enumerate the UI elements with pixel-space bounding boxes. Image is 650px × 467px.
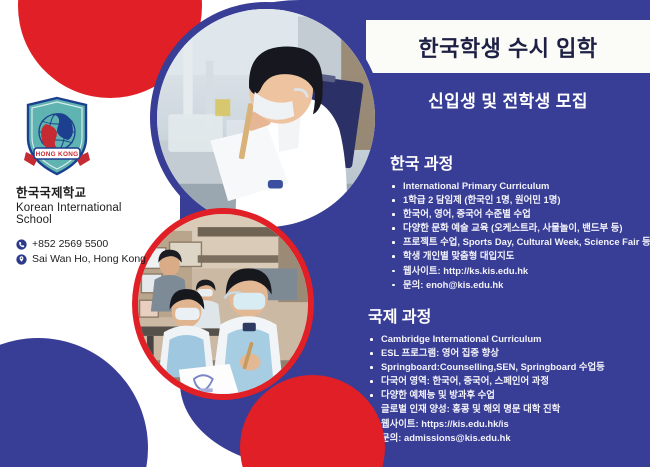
list-item-website[interactable]: 웹사이트: https://kis.edu.hk/is: [368, 417, 648, 431]
list-item: Cambridge International Curriculum: [368, 332, 648, 346]
list-item: 다국어 영역: 한국어, 중국어, 스페인어 과정: [368, 374, 648, 388]
photo-science-lab-image: [157, 9, 375, 227]
contact-phone-text: +852 2569 5500: [32, 238, 108, 250]
curriculum-block-korean: 한국 과정 International Primary Curriculum 1…: [390, 150, 648, 292]
bullet-list-international: Cambridge International Curriculum ESL 프…: [368, 332, 648, 445]
photo-science-lab: [150, 2, 382, 234]
section-title-korean: 한국 과정: [390, 150, 648, 174]
list-item: 학생 개인별 맞춤형 대입지도: [390, 249, 648, 263]
list-item: ESL 프로그램: 영어 집중 향상: [368, 346, 648, 360]
school-identity-block: HONG KONG 한국국제학교 Korean International Sc…: [10, 96, 160, 268]
list-item: 글로벌 인재 양성: 홍콩 및 해외 명문 대학 진학: [368, 402, 648, 416]
list-item: 한국어, 영어, 중국어 수준별 수업: [390, 207, 648, 221]
navy-circle-bottom-left: [0, 338, 148, 467]
list-item: 1학급 2 담임제 (한국인 1명, 원어민 1명): [390, 193, 648, 207]
headline-band: 한국학생 수시 입학: [366, 20, 650, 73]
section-title-international: 국제 과정: [368, 303, 648, 327]
subheadline-band: 신입생 및 전학생 모집: [366, 73, 650, 125]
page-subtitle: 신입생 및 전학생 모집: [428, 87, 588, 112]
page-title: 한국학생 수시 입학: [418, 31, 597, 63]
bullet-list-korean: International Primary Curriculum 1학급 2 담…: [390, 179, 648, 292]
list-item: International Primary Curriculum: [390, 179, 648, 193]
svg-text:HONG KONG: HONG KONG: [36, 151, 79, 158]
contact-location-text: Sai Wan Ho, Hong Kong: [32, 253, 146, 265]
phone-icon: [16, 239, 27, 250]
school-crest-icon: HONG KONG: [24, 96, 90, 176]
curriculum-block-international: 국제 과정 Cambridge International Curriculum…: [368, 303, 648, 445]
list-item-email[interactable]: 문의: enoh@kis.edu.hk: [390, 278, 648, 292]
admissions-poster: 한국학생 수시 입학 신입생 및 전학생 모집 한국 과정 Internatio…: [0, 0, 650, 467]
contact-location[interactable]: Sai Wan Ho, Hong Kong: [16, 253, 160, 265]
list-item: 프로젝트 수업, Sports Day, Cultural Week, Scie…: [390, 235, 648, 249]
list-item: 다양한 문화 예술 교육 (오케스트라, 사물놀이, 밴드부 등): [390, 221, 648, 235]
list-item-email[interactable]: 문의: admissions@kis.edu.hk: [368, 431, 648, 445]
list-item: Springboard:Counselling,SEN, Springboard…: [368, 360, 648, 374]
list-item: 다양한 예체능 및 방과후 수업: [368, 388, 648, 402]
photo-art-class-image: [138, 214, 308, 394]
location-pin-icon: [16, 254, 27, 265]
list-item-website[interactable]: 웹사이트: http://ks.kis.edu.hk: [390, 264, 648, 278]
contact-phone[interactable]: +852 2569 5500: [16, 238, 160, 250]
school-name-english: Korean International School: [16, 202, 160, 226]
school-name-korean: 한국국제학교: [16, 182, 160, 201]
